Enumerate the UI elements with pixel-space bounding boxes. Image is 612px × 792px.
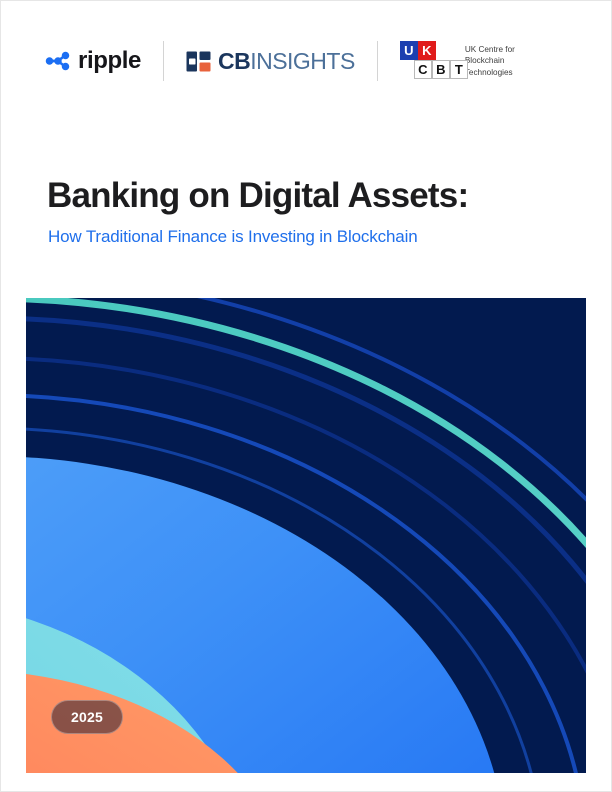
ukcbt-letter-c: C bbox=[414, 60, 432, 79]
logo-divider-1 bbox=[163, 41, 164, 81]
ukcbt-letter-t: T bbox=[450, 60, 468, 79]
page-title: Banking on Digital Assets: bbox=[47, 177, 468, 216]
cbinsights-wordmark-light: INSIGHTS bbox=[250, 48, 355, 74]
year-badge-label: 2025 bbox=[71, 710, 103, 724]
cbinsights-logo: CBINSIGHTS bbox=[186, 37, 355, 85]
year-badge: 2025 bbox=[51, 700, 123, 734]
ripple-wordmark: ripple bbox=[78, 49, 141, 73]
cbinsights-logo-icon bbox=[186, 51, 211, 72]
ripple-logo-icon bbox=[45, 51, 71, 71]
logo-divider-2 bbox=[377, 41, 378, 81]
ukcbt-letter-u: U bbox=[400, 41, 418, 60]
ukcbt-logo-icon: U K C B T bbox=[400, 41, 456, 81]
cbinsights-wordmark-bold: CB bbox=[218, 48, 250, 74]
page-subtitle: How Traditional Finance is Investing in … bbox=[48, 227, 418, 247]
document-page: ripple CBINSIGHTS bbox=[0, 0, 612, 792]
ukcbt-letter-k: K bbox=[418, 41, 436, 60]
ripple-logo: ripple bbox=[45, 37, 141, 85]
cbinsights-wordmark: CBINSIGHTS bbox=[218, 50, 355, 73]
ukcbt-tagline-line-1: UK Centre for bbox=[465, 45, 515, 54]
ukcbt-tagline: UK Centre for Blockchain Technologies bbox=[465, 44, 515, 79]
ukcbt-tagline-line-2: Blockchain bbox=[465, 56, 505, 65]
ukcbt-tagline-line-3: Technologies bbox=[465, 68, 513, 77]
partner-logo-bar: ripple CBINSIGHTS bbox=[45, 37, 515, 85]
ukcbt-letter-b: B bbox=[432, 60, 450, 79]
ukcbt-logo: U K C B T UK Centre for Blockchain Techn… bbox=[400, 37, 515, 85]
